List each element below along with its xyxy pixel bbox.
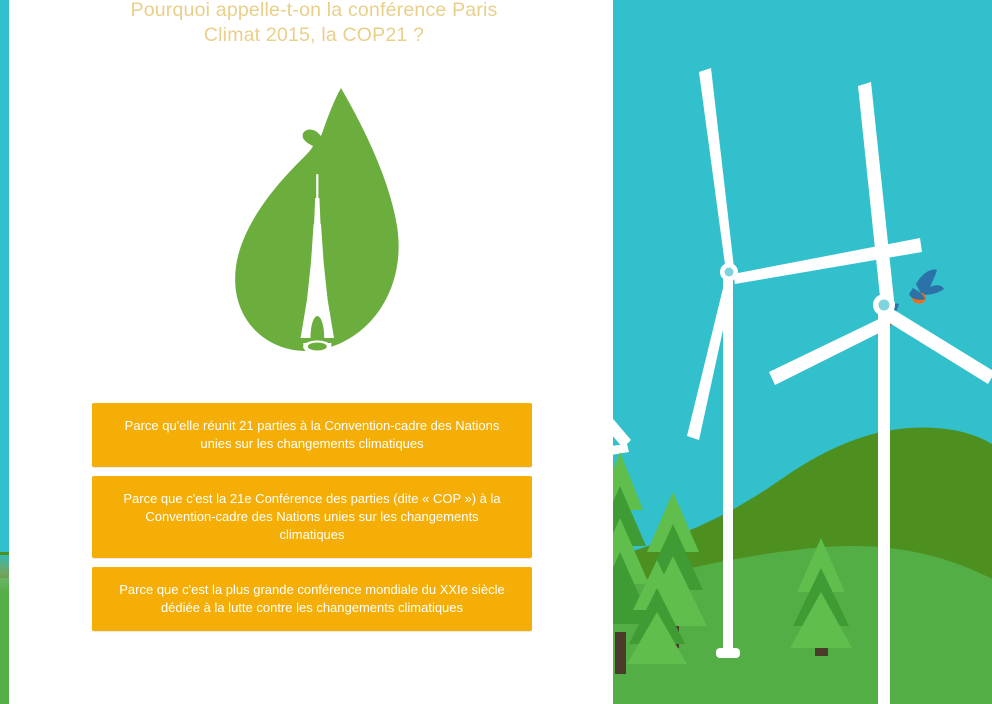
left-edge-illustration-strip <box>0 0 9 704</box>
leaf-eiffel-tower-logo <box>231 86 411 366</box>
plinth-inner <box>308 343 327 351</box>
edge-hill-light <box>0 578 9 704</box>
answer-option-2[interactable]: Parce que c'est la 21e Conférence des pa… <box>92 476 532 558</box>
quiz-page: Pourquoi appelle-t-on la conférence Pari… <box>0 0 992 704</box>
wind-farm-landscape-illustration <box>613 0 992 704</box>
answer-option-3[interactable]: Parce que c'est la plus grande conférenc… <box>92 567 532 631</box>
edge-blur-transition <box>0 555 9 595</box>
quiz-question-title: Pourquoi appelle-t-on la conférence Pari… <box>79 0 549 48</box>
edge-sky <box>0 0 9 560</box>
quiz-panel: Pourquoi appelle-t-on la conférence Pari… <box>9 0 613 704</box>
answer-option-1[interactable]: Parce qu'elle réunit 21 parties à la Con… <box>92 403 532 467</box>
answer-list: Parce qu'elle réunit 21 parties à la Con… <box>92 403 532 640</box>
